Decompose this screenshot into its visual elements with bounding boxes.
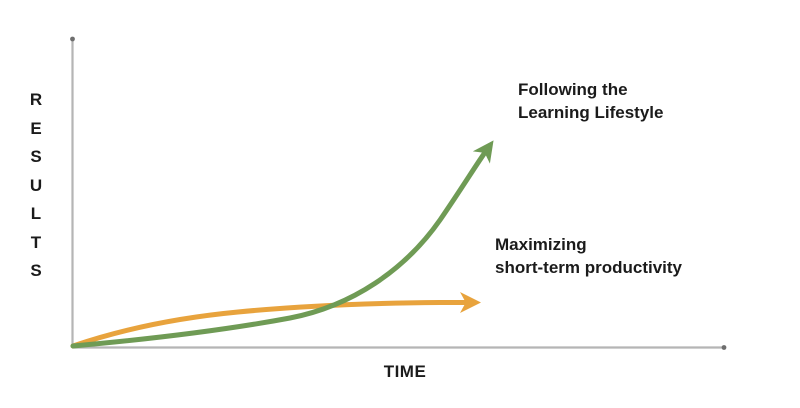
- annotation-line: Following the: [518, 78, 663, 101]
- y-axis-label-letter: S: [22, 143, 50, 172]
- y-axis-label-letter: E: [22, 115, 50, 144]
- chart-plot-area: [0, 0, 800, 408]
- y-axis-label-letter: T: [22, 229, 50, 258]
- chart-canvas: R E S U L T S TIME Following the Learnin…: [0, 0, 800, 408]
- annotation-learning-lifestyle: Following the Learning Lifestyle: [518, 78, 663, 124]
- y-axis-label-letter: U: [22, 172, 50, 201]
- annotation-short-term-productivity: Maximizing short-term productivity: [495, 233, 682, 279]
- annotation-line: Learning Lifestyle: [518, 101, 663, 124]
- annotation-line: short-term productivity: [495, 256, 682, 279]
- series-curve-learning-lifestyle: [73, 151, 486, 346]
- x-axis-label: TIME: [340, 362, 470, 382]
- y-axis-label: R E S U L T S: [22, 86, 50, 286]
- x-axis-end-cap: [722, 345, 727, 350]
- y-axis-label-letter: S: [22, 257, 50, 286]
- y-axis-end-cap: [70, 37, 75, 42]
- y-axis-label-letter: R: [22, 86, 50, 115]
- y-axis-label-letter: L: [22, 200, 50, 229]
- annotation-line: Maximizing: [495, 233, 682, 256]
